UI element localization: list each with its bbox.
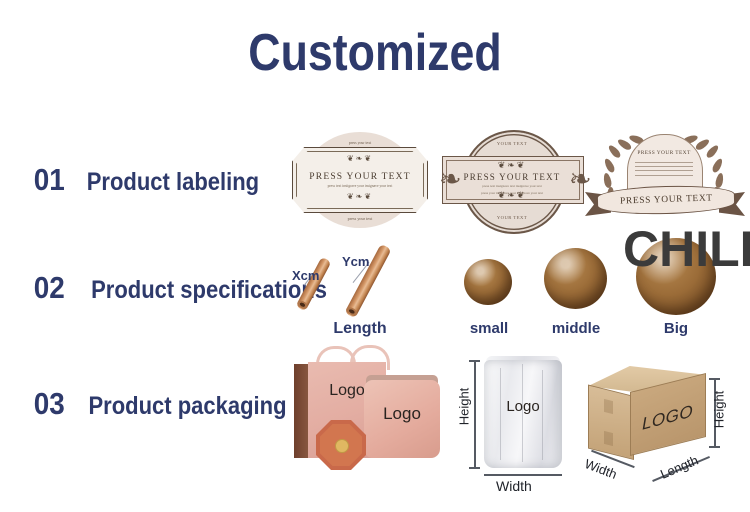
dimension-label-x: Xcm [292, 268, 319, 283]
packaging-woven-sack[interactable]: Logo Height Width [452, 354, 580, 504]
label-top-text: press your text [290, 141, 430, 145]
row-title-1: Product labeling [87, 168, 259, 197]
badge-sub-text: press text insignave text insignave your… [442, 184, 582, 188]
octagon-label-art: press your text ❦❧❦ PRESS YOUR TEXT pres… [290, 130, 430, 230]
label-main-text: PRESS YOUR TEXT [290, 172, 430, 182]
watermark-text: CHILL [623, 220, 750, 278]
row-title-3: Product packaging [89, 392, 287, 421]
length-sample-group[interactable]: Xcm Ycm Length [290, 232, 430, 350]
ball-middle-icon [544, 248, 607, 309]
sack-width-label: Width [496, 478, 532, 494]
label-sample-octagon-oval[interactable]: press your text ❦❧❦ PRESS YOUR TEXT pres… [290, 130, 430, 230]
ball-small-icon [464, 259, 512, 305]
badge-main-text: PRESS YOUR TEXT [442, 172, 582, 182]
sack-width-axis-line [484, 474, 562, 476]
badge-bottom-text: YOUR TEXT [442, 215, 582, 220]
dimension-label-y: Ycm [342, 254, 369, 269]
stick-end-cap [296, 299, 309, 310]
caption-middle: middle [528, 320, 624, 337]
crest-ribbon-banner: PRESS YOUR TEXT [597, 184, 736, 216]
carton-height-axis-cap-bottom [709, 446, 720, 448]
section-product-specifications: 02 Product specifications Xcm Ycm Length… [0, 232, 750, 350]
sack-logo-text: Logo [484, 398, 562, 415]
row-number-2: 02 [34, 270, 65, 306]
carton-height-label: Height [711, 391, 726, 429]
sack-height-label: Height [456, 388, 471, 426]
section-product-packaging: 03 Product packaging Logo Logo [0, 352, 750, 508]
crest-text-lines [635, 162, 693, 179]
row-heading-3: 03 Product packaging [32, 386, 301, 422]
carton-length-label: Length [658, 452, 700, 481]
label-bottom-text: press your text [290, 216, 430, 221]
crest-ribbon-text: PRESS YOUR TEXT [619, 193, 712, 206]
sack-height-axis-line [474, 360, 476, 468]
badge-flourish-top-icon: ❦❧❦ [442, 160, 582, 171]
badge-flourish-bottom-icon: ❦❧❦ [442, 190, 582, 201]
label-sample-wreath-crest[interactable]: PRESS YOUR TEXT PRESS YOUR TEXT [585, 130, 745, 234]
caption-big: Big [636, 320, 716, 337]
caption-length: Length [300, 320, 420, 338]
sack-height-axis-cap-top [469, 360, 480, 362]
size-samples-group[interactable]: small middle Big CHILL [440, 232, 750, 350]
label-sample-circular-badge[interactable]: YOUR TEXT ❧ ❧ ❦❧❦ PRESS YOUR TEXT press … [442, 130, 582, 230]
octagon-box-seal-icon [335, 439, 349, 453]
row-number-1: 01 [34, 162, 65, 198]
page-title: Customized [53, 22, 698, 84]
packaging-samples-group: Logo Logo Logo Height Width [290, 352, 750, 508]
sack-height-axis-cap-bottom [469, 467, 480, 469]
stick-short-icon [295, 257, 331, 312]
carton-side-panel [588, 385, 634, 460]
flourish-ornament-bottom-icon: ❦❧❦ [290, 192, 430, 201]
row-heading-1: 01 Product labeling [32, 162, 271, 198]
packaging-gift-set[interactable]: Logo Logo [290, 354, 440, 472]
flourish-ornament-top-icon: ❦❧❦ [290, 154, 430, 163]
carton-flap-lower [604, 431, 613, 446]
stick-end-cap [345, 306, 359, 318]
row-number-3: 03 [34, 386, 65, 422]
carton-flap-upper [604, 399, 613, 414]
pink-box-logo-text: Logo [364, 404, 440, 424]
carton-height-axis-cap-top [709, 378, 720, 380]
packaging-carton-box[interactable]: LOGO Height Length Width [584, 356, 750, 506]
caption-small: small [454, 320, 524, 337]
crest-shield-text: PRESS YOUR TEXT [627, 150, 701, 156]
badge-top-text: YOUR TEXT [442, 141, 582, 146]
label-sub-text: press text instigrave your insignave you… [290, 184, 430, 188]
